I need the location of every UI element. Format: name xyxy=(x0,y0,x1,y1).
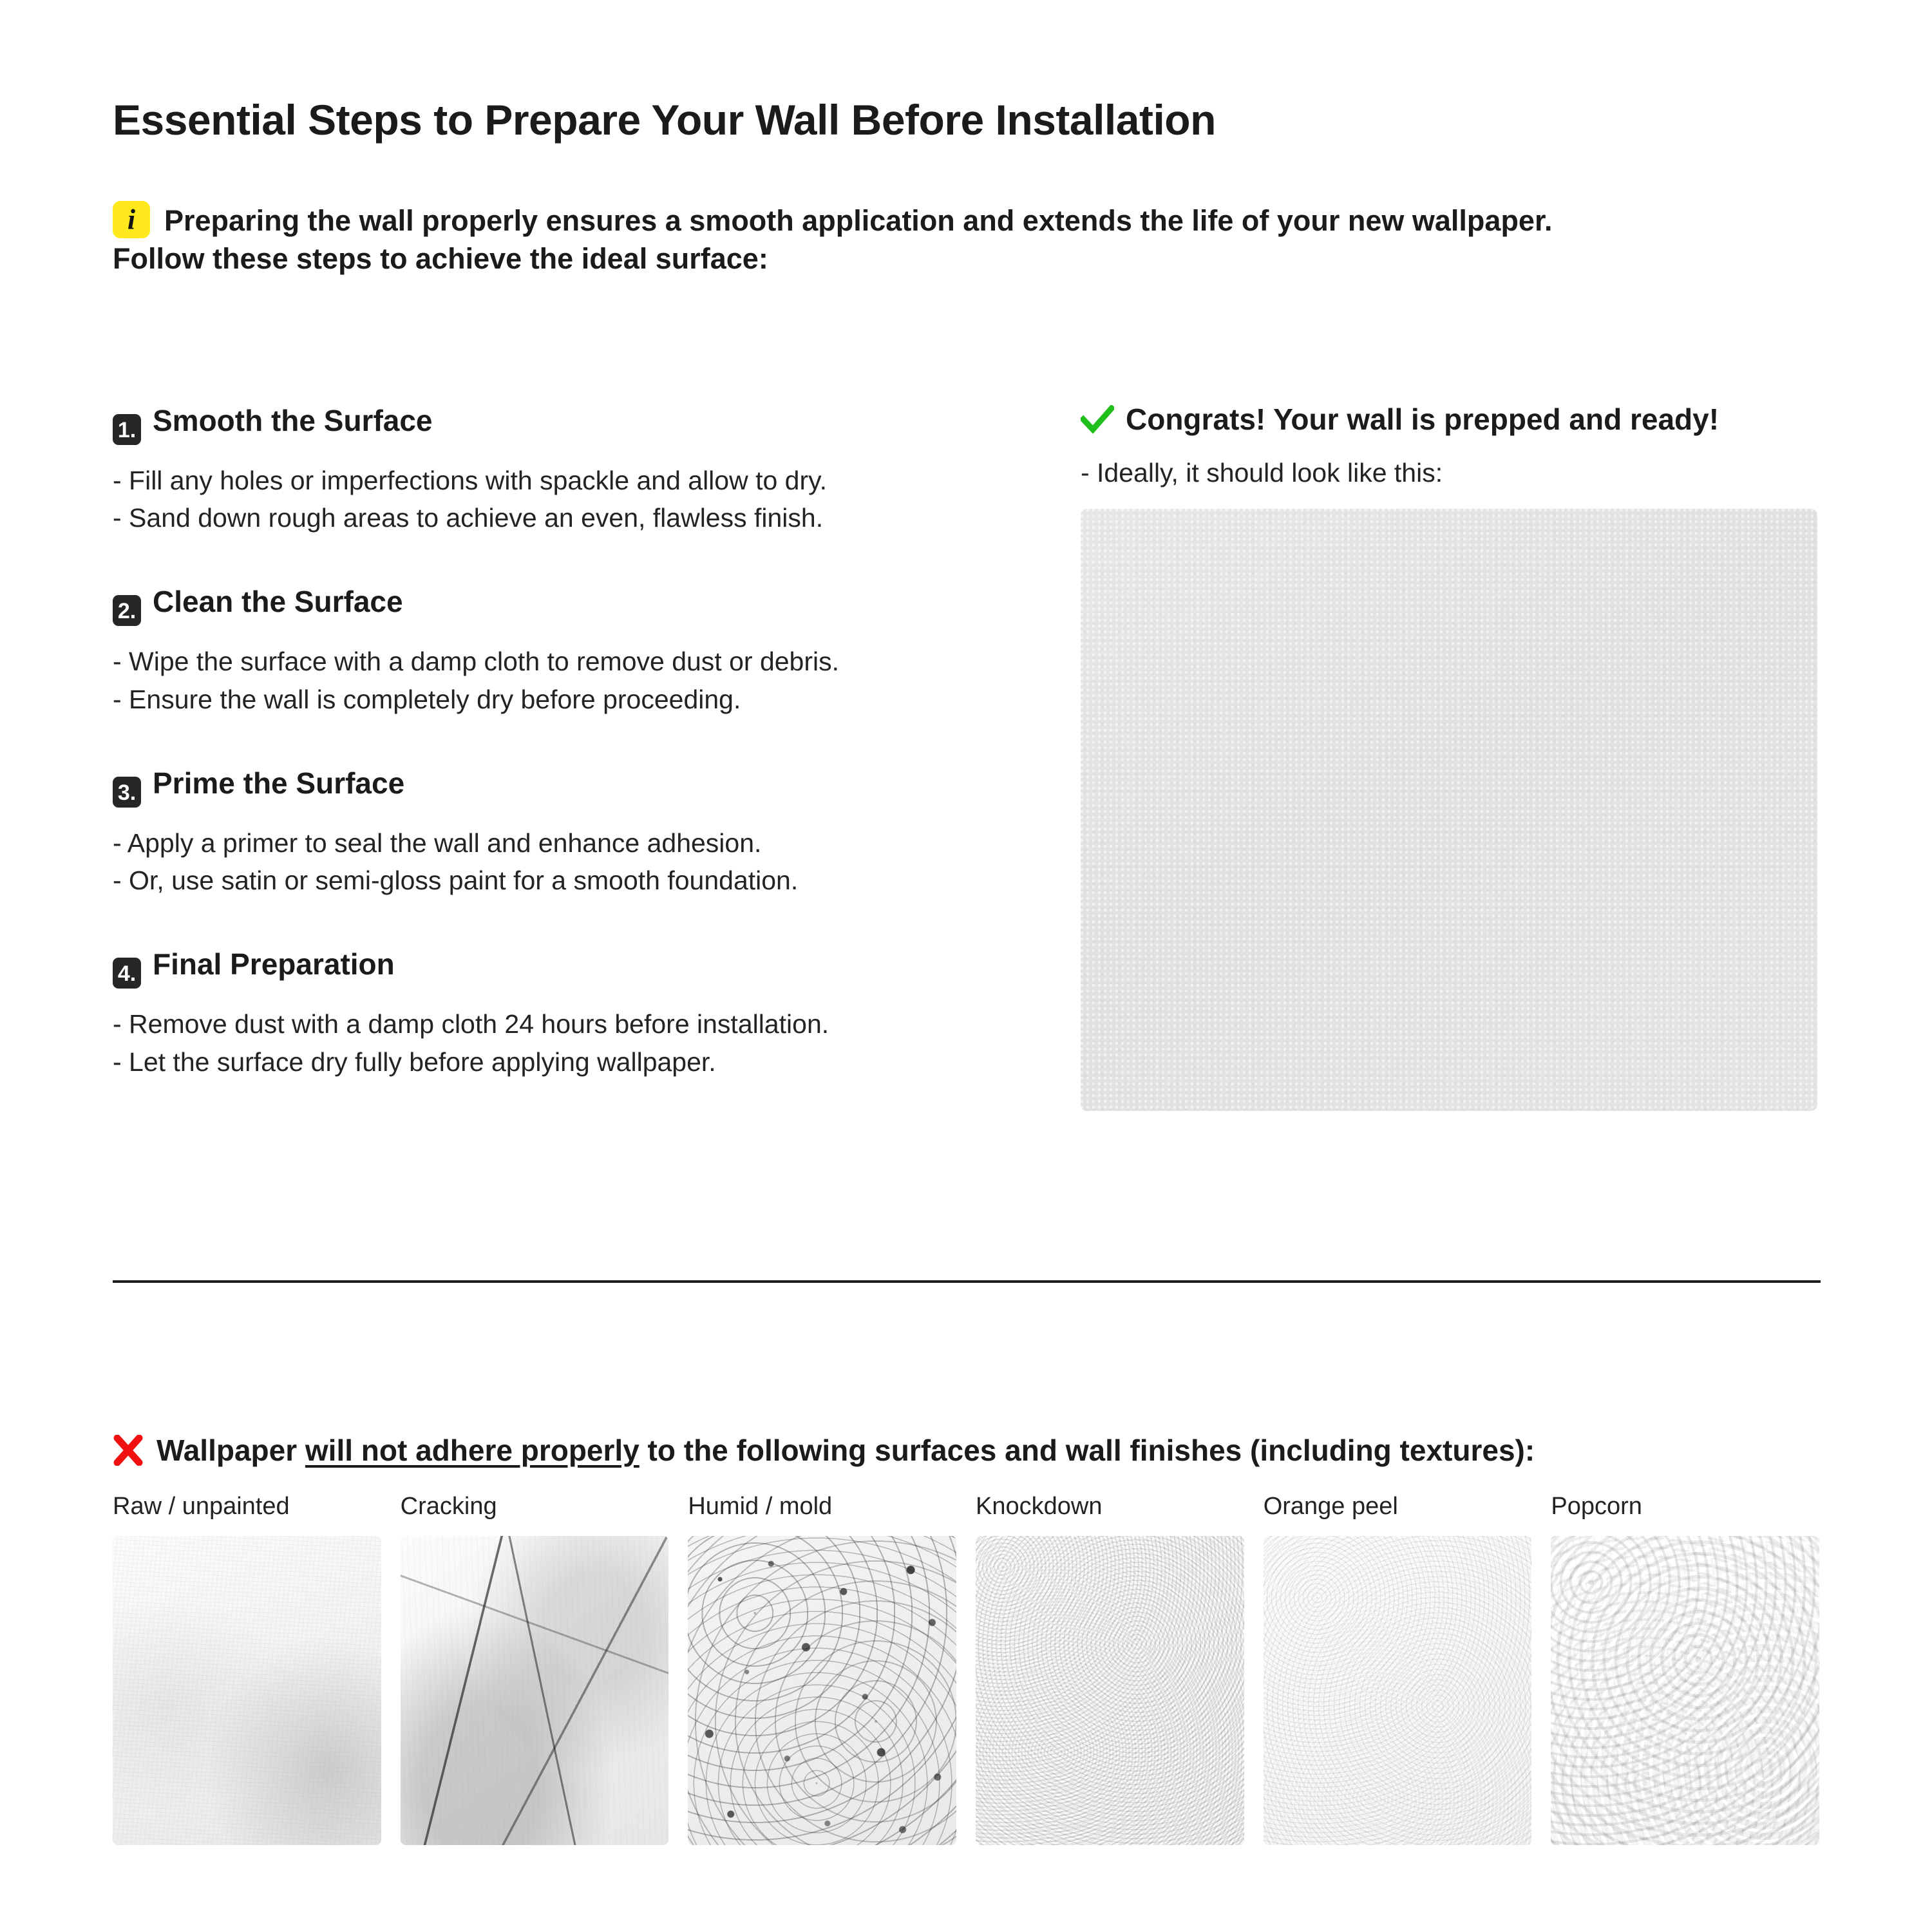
step-bullet-3-2: - Or, use satin or semi-gloss paint for … xyxy=(113,862,1014,899)
step-bullet-4-2: - Let the surface dry fully before apply… xyxy=(113,1043,1014,1081)
steps-list: 1.Smooth the Surface - Fill any holes or… xyxy=(113,406,1014,1081)
step-number-badge-2: 2. xyxy=(113,595,141,626)
congrats-heading: Congrats! Your wall is prepped and ready… xyxy=(1081,404,1821,438)
step-heading-3: 3.Prime the Surface xyxy=(113,768,1014,808)
step-bullet-4-1: - Remove dust with a damp cloth 24 hours… xyxy=(113,1005,1014,1043)
step-item-4: 4.Final Preparation - Remove dust with a… xyxy=(113,949,1014,1080)
bad-surface-gallery: Raw / unpainted Cracking Humid / mold Kn… xyxy=(113,1493,1819,1845)
step-bullet-3-1: - Apply a primer to seal the wall and en… xyxy=(113,824,1014,862)
thumbnail-label-raw-unpainted: Raw / unpainted xyxy=(113,1493,381,1520)
step-item-2: 2.Clean the Surface - Wipe the surface w… xyxy=(113,587,1014,717)
step-bullet-1-1: - Fill any holes or imperfections with s… xyxy=(113,462,1014,499)
intro-line-1: Preparing the wall properly ensures a sm… xyxy=(164,204,1553,237)
step-heading-4: 4.Final Preparation xyxy=(113,949,1014,989)
thumbnail-image-cracking xyxy=(401,1536,669,1845)
info-icon-glyph: i xyxy=(113,201,150,238)
thumbnail-item-cracking: Cracking xyxy=(401,1493,669,1845)
step-number-badge-3: 3. xyxy=(113,777,141,808)
warning-text-before: Wallpaper xyxy=(156,1434,305,1467)
intro-line-2: Follow these steps to achieve the ideal … xyxy=(113,242,768,275)
info-icon: i xyxy=(113,201,150,238)
step-heading-2: 2.Clean the Surface xyxy=(113,587,1014,626)
step-item-1: 1.Smooth the Surface - Fill any holes or… xyxy=(113,406,1014,536)
step-bullet-2-1: - Wipe the surface with a damp cloth to … xyxy=(113,643,1014,680)
thumbnail-item-knockdown: Knockdown xyxy=(976,1493,1244,1845)
thumbnail-label-cracking: Cracking xyxy=(401,1493,669,1520)
thumbnail-label-knockdown: Knockdown xyxy=(976,1493,1244,1520)
step-bullet-1-2: - Sand down rough areas to achieve an ev… xyxy=(113,499,1014,536)
step-title-1: Smooth the Surface xyxy=(153,404,433,437)
thumbnail-image-knockdown xyxy=(976,1536,1244,1845)
ideal-wall-sample xyxy=(1081,509,1817,1111)
congrats-heading-text: Congrats! Your wall is prepped and ready… xyxy=(1126,402,1719,436)
thumbnail-label-popcorn: Popcorn xyxy=(1551,1493,1819,1520)
congrats-subtext: - Ideally, it should look like this: xyxy=(1081,455,1821,491)
step-number-badge-4: 4. xyxy=(113,958,141,989)
warning-heading: Wallpaper will not adhere properly to th… xyxy=(113,1433,1535,1473)
intro-paragraph: iPreparing the wall properly ensures a s… xyxy=(113,201,1826,278)
congrats-block: Congrats! Your wall is prepped and ready… xyxy=(1081,404,1821,491)
step-title-3: Prime the Surface xyxy=(153,766,404,800)
thumbnail-item-humid-mold: Humid / mold xyxy=(688,1493,956,1845)
step-number-badge-1: 1. xyxy=(113,414,141,445)
thumbnail-label-orange-peel: Orange peel xyxy=(1264,1493,1532,1520)
warning-text-after: to the following surfaces and wall finis… xyxy=(639,1434,1535,1467)
step-item-3: 3.Prime the Surface - Apply a primer to … xyxy=(113,768,1014,899)
step-heading-1: 1.Smooth the Surface xyxy=(113,406,1014,445)
section-divider xyxy=(113,1280,1821,1283)
step-title-4: Final Preparation xyxy=(153,947,395,981)
red-x-icon xyxy=(113,1435,144,1473)
thumbnail-image-humid-mold xyxy=(688,1536,956,1845)
thumbnail-image-orange-peel xyxy=(1264,1536,1532,1845)
thumbnail-image-raw-unpainted xyxy=(113,1536,381,1845)
thumbnail-item-popcorn: Popcorn xyxy=(1551,1493,1819,1845)
step-bullet-2-2: - Ensure the wall is completely dry befo… xyxy=(113,681,1014,718)
green-check-icon xyxy=(1081,405,1114,438)
warning-text-emphasis: will not adhere properly xyxy=(305,1434,639,1467)
thumbnail-label-humid-mold: Humid / mold xyxy=(688,1493,956,1520)
page-title: Essential Steps to Prepare Your Wall Bef… xyxy=(113,95,1216,144)
thumbnail-item-raw-unpainted: Raw / unpainted xyxy=(113,1493,381,1845)
thumbnail-item-orange-peel: Orange peel xyxy=(1264,1493,1532,1845)
thumbnail-image-popcorn xyxy=(1551,1536,1819,1845)
step-title-2: Clean the Surface xyxy=(153,585,403,618)
wall-prep-infographic: Essential Steps to Prepare Your Wall Bef… xyxy=(0,0,1932,1932)
